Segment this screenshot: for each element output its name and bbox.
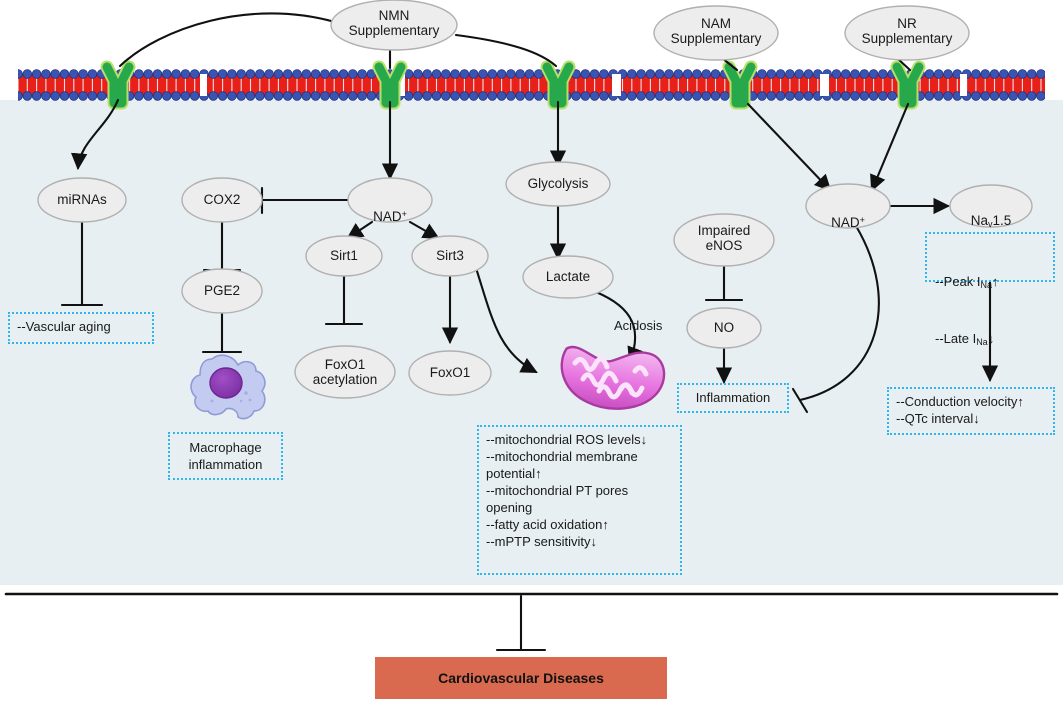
outcome-box-vascular-aging: --Vascular aging [8, 312, 154, 344]
macrophage-inflammation-text: Macrophage inflammation [174, 439, 277, 473]
late-label: --Late I [935, 331, 976, 346]
pathway-svg [0, 0, 1063, 711]
edge-label-acidosis: Acidosis [614, 318, 662, 333]
node-lactate [523, 256, 613, 298]
node-pge2 [182, 269, 262, 313]
node-foxo1 [409, 351, 491, 395]
cell-membrane [14, 70, 1046, 101]
node-sirt1 [306, 236, 382, 276]
sodium-current-line-1: --Peak INa↑ [935, 255, 1049, 294]
node-nav15 [950, 185, 1032, 227]
node-no [687, 308, 761, 348]
node-sirt3 [412, 236, 488, 276]
node-foxo1-acetylation [295, 346, 395, 398]
node-nam [654, 6, 778, 60]
macrophage-icon [191, 355, 265, 418]
mitochondria-outcomes-text: --mitochondrial ROS levels↓ --mitochondr… [486, 431, 676, 550]
sodium-current-text: --Peak INa↑ --Late INa↓ [935, 237, 1049, 369]
node-nr [845, 6, 969, 60]
diagram-canvas: NMN Supplementary NAM Supplementary NR S… [0, 0, 1063, 711]
outcome-box-sodium-current: --Peak INa↑ --Late INa↓ [925, 232, 1055, 282]
node-impaired-enos [674, 214, 774, 266]
late-arrow: ↓ [988, 331, 995, 346]
node-glycolysis [506, 162, 610, 206]
vascular-aging-text: --Vascular aging [17, 318, 148, 335]
cardiovascular-diseases-bar: Cardiovascular Diseases [375, 657, 667, 699]
edge-nmn-to-glyco-receptor [456, 35, 556, 66]
node-nad-left [348, 178, 432, 222]
edge-nmn-to-left-receptor [120, 13, 335, 66]
node-cox2 [182, 178, 262, 222]
inflammation-text: Inflammation [682, 389, 784, 406]
node-nad-right [806, 184, 890, 228]
peak-label: --Peak I [935, 274, 981, 289]
outcome-box-inflammation: Inflammation [677, 383, 789, 413]
outcome-box-conduction: --Conduction velocity↑ --QTc interval↓ [887, 387, 1055, 435]
outcome-box-mitochondria: --mitochondrial ROS levels↓ --mitochondr… [477, 425, 682, 575]
node-nmn [331, 0, 457, 50]
node-mirnas [38, 178, 126, 222]
outcome-box-macrophage-inflammation: Macrophage inflammation [168, 432, 283, 480]
peak-subscript: Na [981, 280, 993, 290]
sodium-current-line-2: --Late INa↓ [935, 312, 1049, 351]
peak-arrow: ↑ [992, 274, 999, 289]
conduction-text: --Conduction velocity↑ --QTc interval↓ [896, 393, 1049, 427]
late-subscript: Na [976, 337, 988, 347]
